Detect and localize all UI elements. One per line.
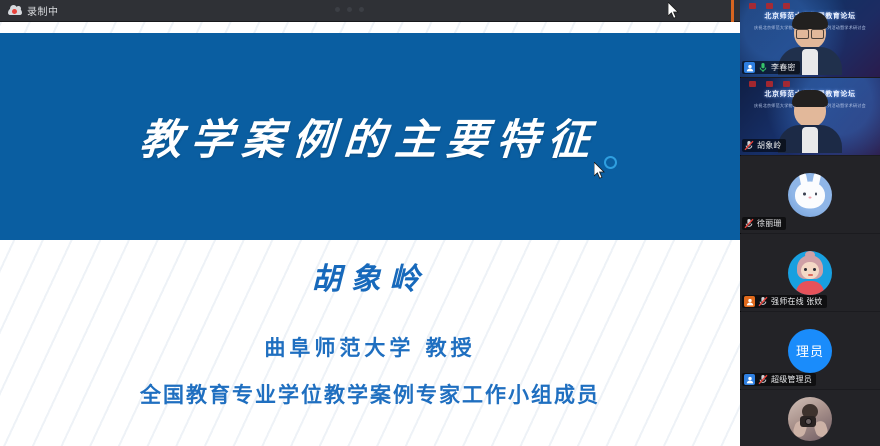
mic-unmuted-icon (758, 62, 768, 73)
participant-tile[interactable]: 北京师范大学物理教育论坛 庆祝北京师范大学物理学科创建百年系列活动暨学术研讨会 … (740, 78, 880, 155)
participant-name: 超级管理员 (771, 374, 812, 385)
mic-muted-icon (758, 374, 768, 385)
slide-speaker-name: 胡象岭 (0, 254, 740, 298)
participant-namebar: 胡象岭 (742, 139, 786, 152)
participant-name: 强师在线 张妏 (771, 296, 823, 307)
slide-title-banner: 教学案例的主要特征 (0, 33, 740, 240)
presentation-slide: 教学案例的主要特征 胡象岭 曲阜师范大学 教授 全国教育专业学位教学案例专家工作… (0, 22, 740, 446)
participant-name: 胡象岭 (757, 140, 782, 151)
shared-screen-stage: 录制中 教学案例的主要特征 胡象岭 曲阜师范大学 教授 全国教育专业学位教学案例… (0, 0, 740, 446)
meeting-window: 录制中 教学案例的主要特征 胡象岭 曲阜师范大学 教授 全国教育专业学位教学案例… (0, 0, 880, 446)
slide-title: 教学案例的主要特征 (138, 106, 601, 167)
participant-tile[interactable] (740, 390, 880, 446)
slide-lower-text: 胡象岭 曲阜师范大学 教授 全国教育专业学位教学案例专家工作小组成员 (0, 254, 740, 409)
slide-affiliation: 曲阜师范大学 教授 (0, 332, 740, 362)
avatar (788, 397, 832, 441)
avatar (788, 173, 832, 217)
participant-namebar: 强师在线 张妏 (742, 295, 827, 308)
mic-muted-icon (744, 218, 754, 229)
participant-tile[interactable]: 北京师范大学物理教育论坛 庆祝北京师范大学物理学科创建百年系列活动暨学术研讨会 (740, 0, 880, 77)
participant-namebar: 超级管理员 (742, 373, 816, 386)
avatar-video-placeholder (740, 390, 880, 446)
avatar-initials: 理员 (796, 341, 824, 360)
user-badge-icon (744, 374, 755, 385)
topbar-dots (335, 7, 364, 12)
mic-muted-icon (758, 296, 768, 307)
person-silhouette (778, 93, 842, 153)
user-badge-icon (744, 62, 755, 73)
mic-muted-icon (744, 140, 754, 151)
participant-tile[interactable]: 强师在线 张妏 (740, 234, 880, 311)
participant-namebar: 徐丽珊 (742, 217, 786, 230)
recording-topbar: 录制中 (0, 0, 740, 22)
avatar (788, 251, 832, 295)
participant-tile[interactable]: 徐丽珊 (740, 156, 880, 233)
host-badge-icon (744, 296, 755, 307)
participant-name: 徐丽珊 (757, 218, 782, 229)
participant-namebar: 李春密 (742, 61, 800, 74)
cloud-record-icon (8, 5, 22, 16)
busy-ring-icon (604, 156, 617, 169)
avatar: 理员 (788, 329, 832, 373)
participant-panel[interactable]: 北京师范大学物理教育论坛 庆祝北京师范大学物理学科创建百年系列活动暨学术研讨会 (740, 0, 880, 446)
slide-role: 全国教育专业学位教学案例专家工作小组成员 (0, 379, 740, 409)
participant-name: 李春密 (771, 62, 796, 73)
participant-tile[interactable]: 理员 超级管理员 (740, 312, 880, 389)
topbar-accent-bar (731, 0, 734, 22)
recording-label: 录制中 (27, 3, 59, 18)
